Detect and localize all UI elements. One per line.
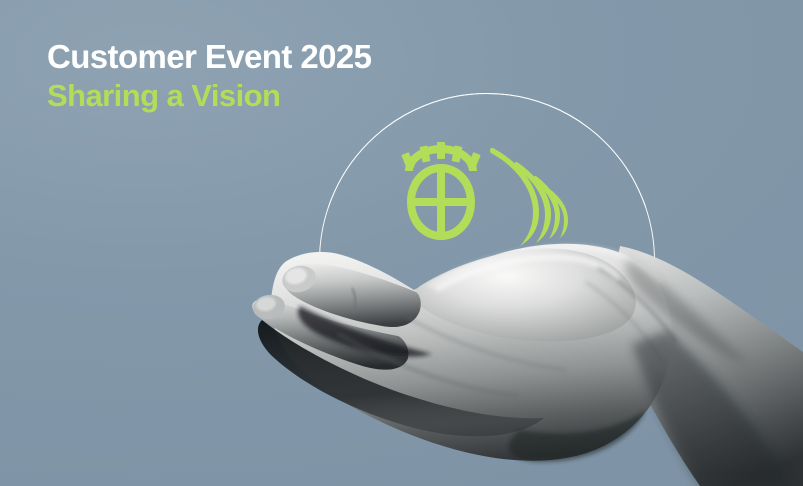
headline-block: Customer Event 2025 Sharing a Vision	[47, 40, 371, 111]
page-subtitle: Sharing a Vision	[47, 80, 371, 111]
slide-canvas: Customer Event 2025 Sharing a Vision	[0, 0, 803, 486]
page-title: Customer Event 2025	[47, 40, 371, 73]
